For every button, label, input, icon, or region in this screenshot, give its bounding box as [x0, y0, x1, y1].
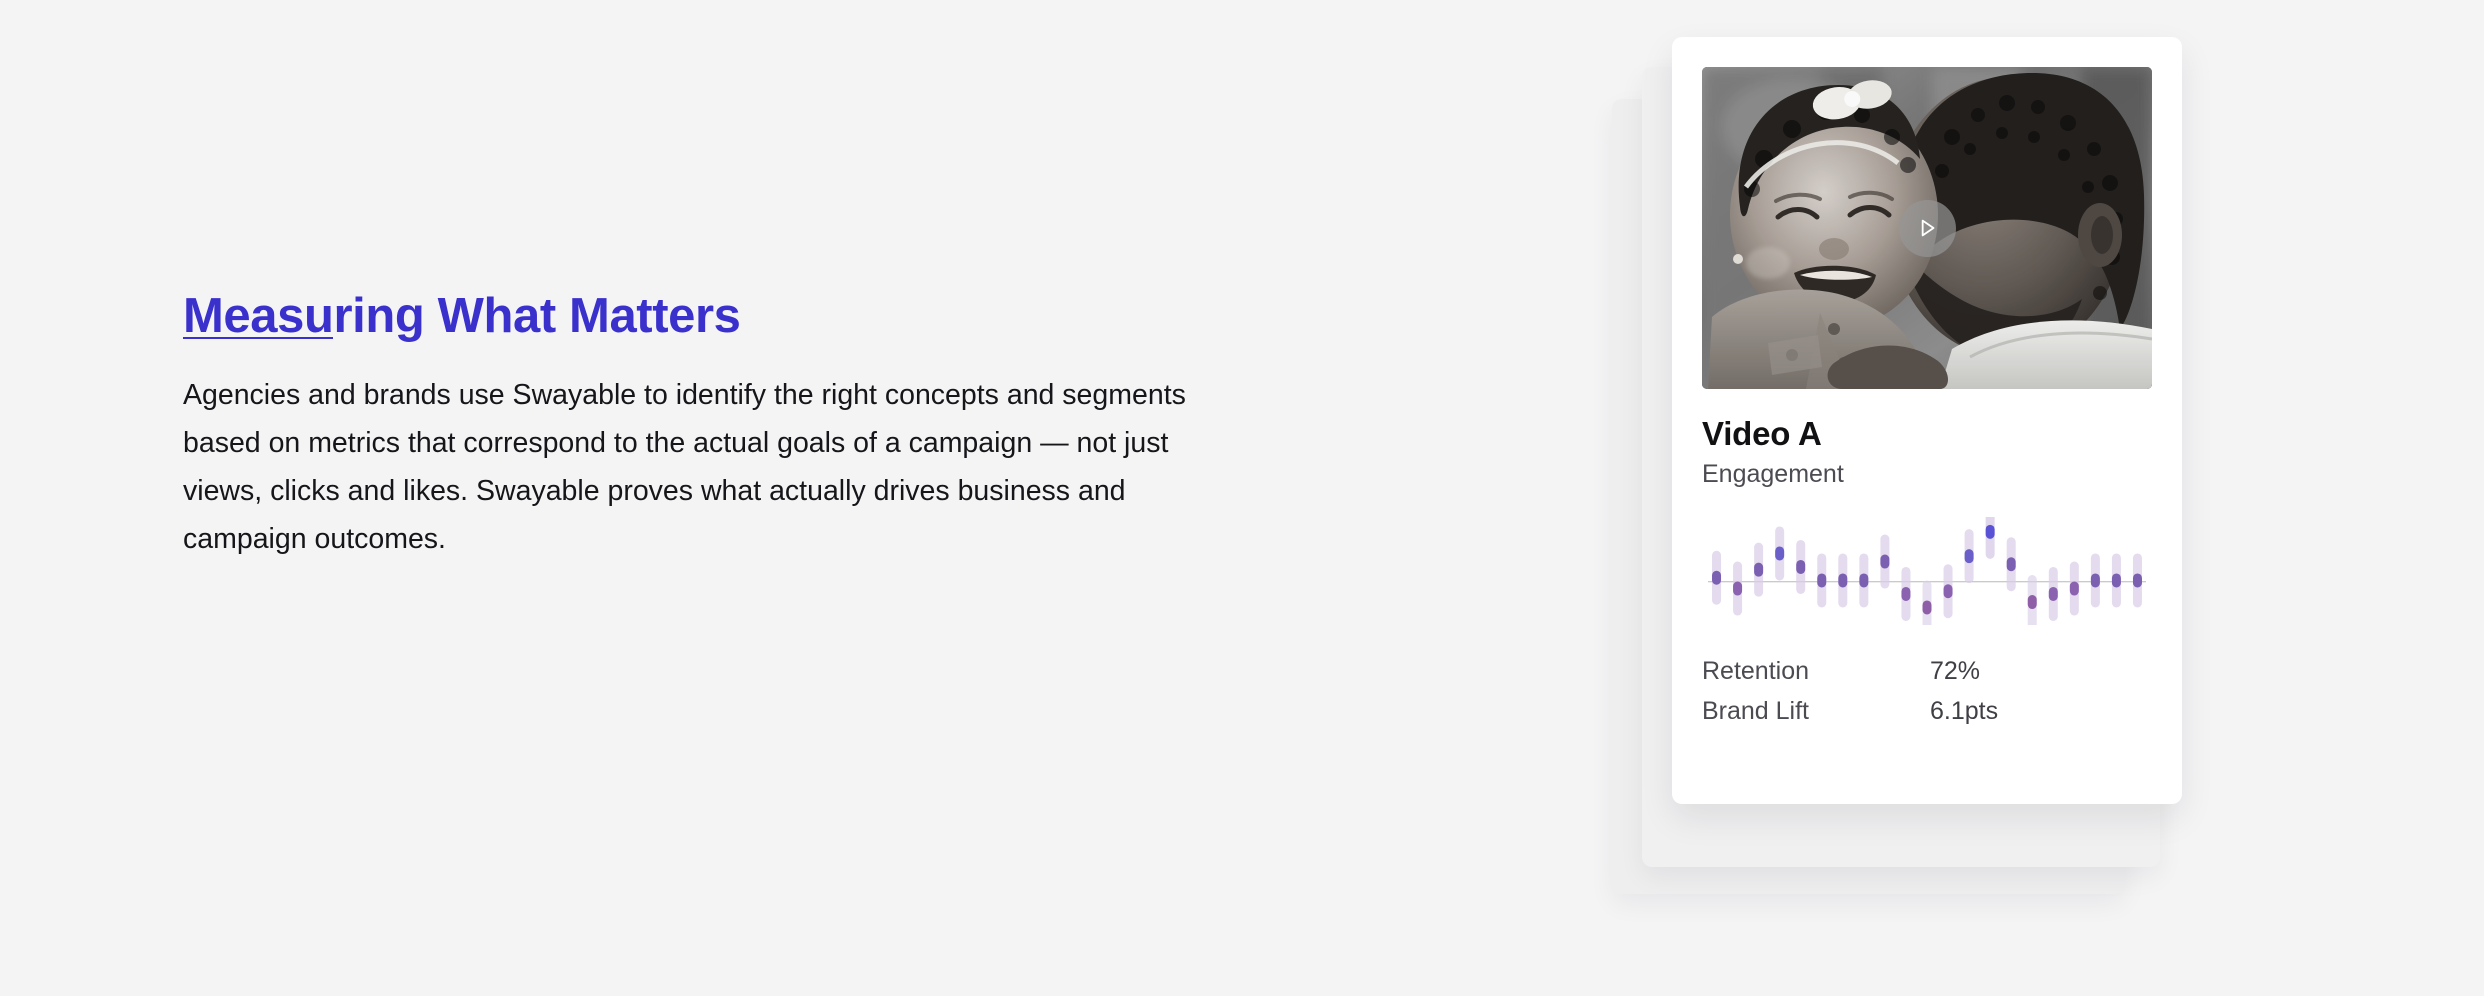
chart-point: [2133, 573, 2142, 587]
chart-point: [1733, 581, 1742, 595]
engagement-chart: [1702, 517, 2152, 625]
chart-point: [1838, 573, 1847, 587]
accent-rule: [183, 337, 333, 339]
chart-point: [2028, 595, 2037, 609]
chart-point: [1944, 584, 1953, 598]
chart-point: [1775, 546, 1784, 560]
engagement-chart-svg: [1702, 517, 2152, 625]
chart-point: [2112, 573, 2121, 587]
video-metrics-card[interactable]: Video A Engagement Retention 72% Brand L…: [1672, 37, 2182, 804]
card-title: Video A: [1702, 416, 2152, 452]
section-text-block: Measuring What Matters Agencies and bran…: [183, 290, 1283, 563]
chart-point: [2091, 573, 2100, 587]
play-button[interactable]: [1899, 200, 1956, 257]
chart-point: [1859, 573, 1868, 587]
chart-point: [1754, 562, 1763, 576]
chart-point: [1901, 587, 1910, 601]
chart-point: [1817, 573, 1826, 587]
chart-point: [1796, 560, 1805, 574]
metric-value: 6.1pts: [1930, 691, 1998, 731]
metric-label: Retention: [1702, 651, 1930, 691]
chart-point: [2049, 587, 2058, 601]
metrics-list: Retention 72% Brand Lift 6.1pts: [1702, 651, 2152, 731]
chart-point: [1965, 549, 1974, 563]
video-thumbnail[interactable]: [1702, 67, 2152, 389]
corner-hairline-decoration: [0, 0, 256, 4]
chart-point: [2070, 581, 2079, 595]
metric-value: 72%: [1930, 651, 1980, 691]
chart-point: [2007, 557, 2016, 571]
chart-point: [1923, 600, 1932, 614]
page-title: Measuring What Matters: [183, 290, 1283, 344]
chart-point: [1712, 571, 1721, 585]
metric-row: Retention 72%: [1702, 651, 2152, 691]
metric-label: Brand Lift: [1702, 691, 1930, 731]
card-subtitle: Engagement: [1702, 461, 2152, 489]
section-body-text: Agencies and brands use Swayable to iden…: [183, 371, 1243, 563]
play-icon: [1914, 215, 1940, 241]
card-stack: Video A Engagement Retention 72% Brand L…: [1612, 37, 2192, 867]
metric-row: Brand Lift 6.1pts: [1702, 691, 2152, 731]
chart-point: [1986, 525, 1995, 539]
chart-point: [1880, 554, 1889, 568]
